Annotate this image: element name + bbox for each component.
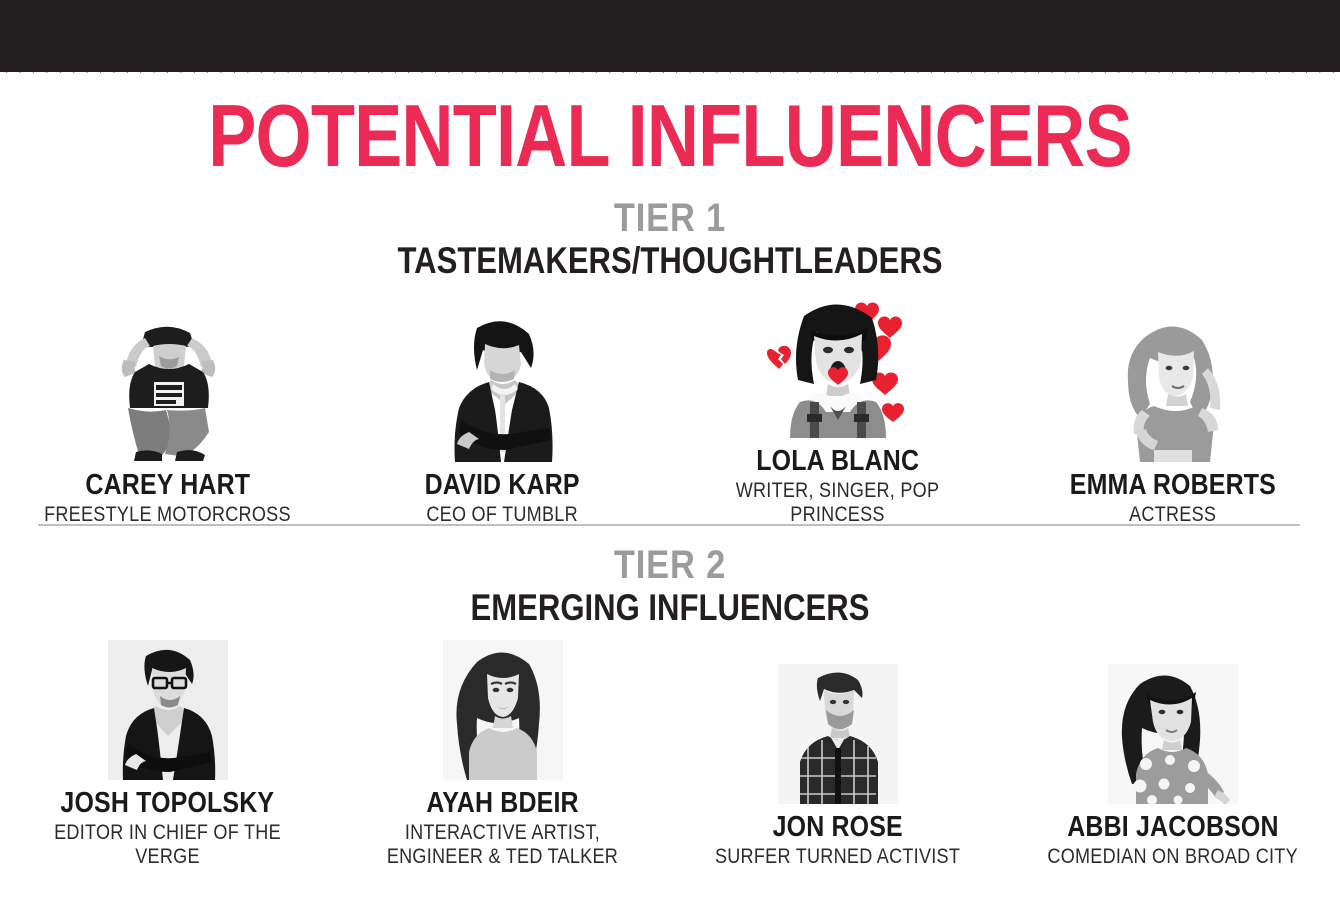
tier-1-people-grid: CAREY HART FREESTYLE MOTORCROSS — [0, 288, 1340, 527]
person-role: WRITER, SINGER, POP PRINCESS — [693, 479, 981, 527]
tier-1-subtitle: TASTEMAKERS/THOUGHTLEADERS — [107, 240, 1233, 282]
lola-blanc-photo — [670, 288, 1005, 438]
emma-roberts-photo — [1005, 312, 1340, 462]
tier-2-people-grid: JOSH TOPOLSKY EDITOR IN CHIEF OF THE VER… — [0, 635, 1340, 869]
page-title: POTENTIAL INFLUENCERS — [121, 88, 1220, 184]
infographic-page: POTENTIAL INFLUENCERS TIER 1 TASTEMAKERS… — [0, 0, 1340, 921]
person-card-abbi-jacobson[interactable]: ABBI JACOBSON COMEDIAN ON BROAD CITY — [1005, 635, 1340, 869]
josh-topolsky-photo — [0, 635, 335, 780]
tier-2-subtitle: EMERGING INFLUENCERS — [107, 587, 1233, 629]
tier-1-section: TIER 1 TASTEMAKERS/THOUGHTLEADERS — [0, 196, 1340, 527]
person-card-carey-hart[interactable]: CAREY HART FREESTYLE MOTORCROSS — [0, 288, 335, 527]
person-card-ayah-bdeir[interactable]: AYAH BDEIR INTERACTIVE ARTIST, ENGINEER … — [335, 635, 670, 869]
tier-1-label: TIER 1 — [94, 196, 1246, 240]
david-karp-photo — [335, 312, 670, 462]
person-name: CAREY HART — [85, 470, 250, 501]
tier-2-section: TIER 2 EMERGING INFLUENCERS — [0, 543, 1340, 869]
zigzag-edge-divider — [0, 62, 1340, 76]
person-card-jon-rose[interactable]: JON ROSE SURFER TURNED ACTIVIST — [670, 635, 1005, 869]
person-name: DAVID KARP — [425, 470, 580, 501]
person-card-emma-roberts[interactable]: EMMA ROBERTS ACTRESS — [1005, 288, 1340, 527]
ayah-bdeir-photo — [335, 635, 670, 780]
person-card-david-karp[interactable]: DAVID KARP CEO OF TUMBLR — [335, 288, 670, 527]
abbi-jacobson-photo — [1005, 659, 1340, 804]
carey-hart-photo — [0, 312, 335, 462]
jon-rose-photo — [670, 659, 1005, 804]
person-name: JOSH TOPOLSKY — [61, 788, 275, 819]
tier-2-label: TIER 2 — [94, 543, 1246, 587]
person-name: EMMA ROBERTS — [1069, 470, 1275, 501]
person-role: INTERACTIVE ARTIST, ENGINEER & TED TALKE… — [387, 821, 618, 869]
person-card-lola-blanc[interactable]: LOLA BLANC WRITER, SINGER, POP PRINCESS — [670, 288, 1005, 527]
person-name: JON ROSE — [772, 812, 902, 843]
person-role: COMEDIAN ON BROAD CITY — [1047, 845, 1298, 869]
person-name: LOLA BLANC — [756, 446, 919, 477]
person-name: AYAH BDEIR — [426, 788, 578, 819]
person-role: SURFER TURNED ACTIVIST — [715, 845, 960, 869]
person-card-josh-topolsky[interactable]: JOSH TOPOLSKY EDITOR IN CHIEF OF THE VER… — [0, 635, 335, 869]
person-name: ABBI JACOBSON — [1067, 812, 1278, 843]
tier-divider-line — [38, 524, 1300, 526]
person-role: EDITOR IN CHIEF OF THE VERGE — [23, 821, 311, 869]
